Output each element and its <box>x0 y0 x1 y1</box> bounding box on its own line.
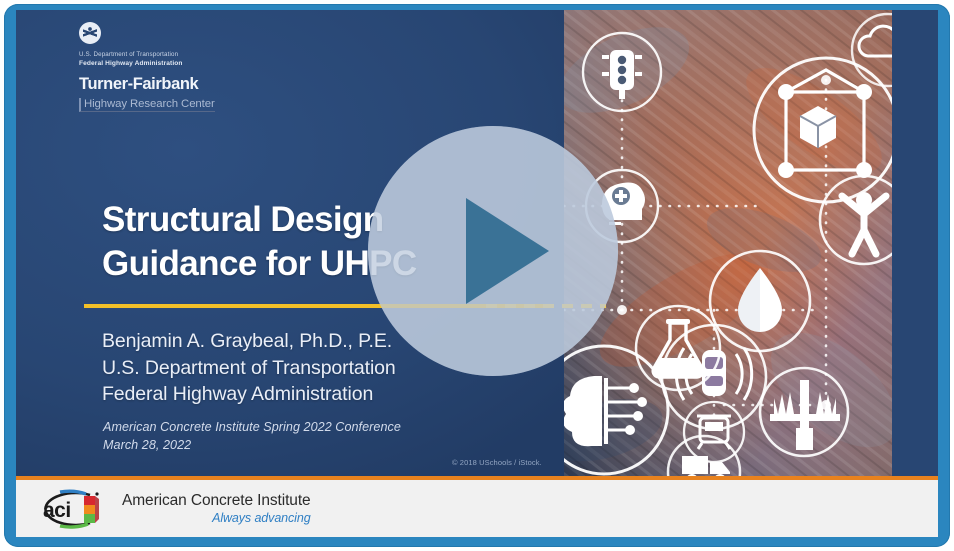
aci-wordmark: American Concrete Institute Always advan… <box>122 492 311 524</box>
play-button[interactable] <box>368 126 618 376</box>
presenter-org-2: Federal Highway Administration <box>102 381 542 408</box>
aci-organization-name: American Concrete Institute <box>122 492 311 509</box>
tfhrc-name-line-1: Turner-Fairbank <box>79 76 269 93</box>
tfhrc-logo: Turner-Fairbank Highway Research Center <box>79 76 269 111</box>
svg-text:aci: aci <box>43 499 71 522</box>
aci-circle-logo: aci <box>34 489 106 529</box>
photo-credit: © 2018 USchools / iStock. <box>452 458 542 467</box>
tfhrc-name-line-2: Highway Research Center <box>79 98 215 112</box>
video-player[interactable]: U.S. Department of Transportation Federa… <box>0 0 954 551</box>
aci-tagline: Always advancing <box>122 511 311 525</box>
dot-triskelion-seal-icon <box>79 22 101 44</box>
event-name: American Concrete Institute Spring 2022 … <box>103 419 543 437</box>
play-triangle-icon <box>466 198 549 304</box>
event-block: American Concrete Institute Spring 2022 … <box>103 419 543 455</box>
player-viewport[interactable]: U.S. Department of Transportation Federa… <box>16 10 938 537</box>
dot-department-label: U.S. Department of Transportation <box>79 50 269 59</box>
fhwa-label: Federal Highway Administration <box>79 59 269 69</box>
aci-footer-bar: aci American Concrete Institute Always a… <box>16 480 938 537</box>
event-date: March 28, 2022 <box>103 437 543 455</box>
fhwa-logo-block: U.S. Department of Transportation Federa… <box>79 22 269 112</box>
presentation-slide: U.S. Department of Transportation Federa… <box>16 10 938 476</box>
